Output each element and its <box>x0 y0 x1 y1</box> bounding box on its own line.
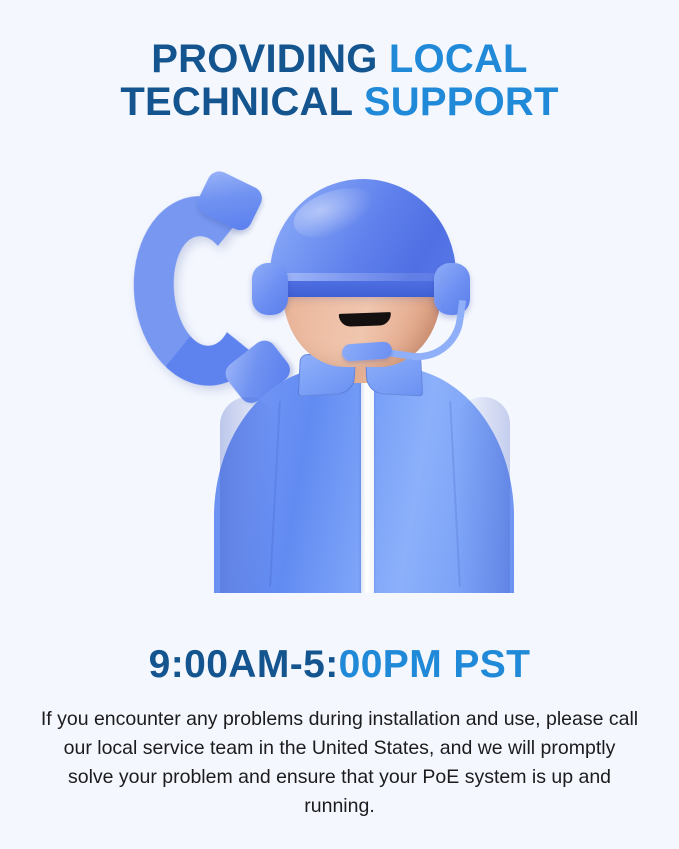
agent-torso <box>214 367 514 593</box>
page-title-line-2: TECHNICAL SUPPORT <box>120 81 558 124</box>
title-word-providing: PROVIDING <box>151 37 377 81</box>
title-word-local: LOCAL <box>389 37 528 81</box>
hours-segment-close: 00PM PST <box>339 643 531 686</box>
support-poster: PROVIDING LOCAL TECHNICAL SUPPORT <box>0 0 679 849</box>
page-title-line-1: PROVIDING LOCAL <box>120 38 558 81</box>
headset-earpiece-left <box>252 263 288 315</box>
support-agent-illustration <box>0 155 679 625</box>
title-word-technical: TECHNICAL <box>120 80 352 124</box>
hours-segment-open: 9:00AM-5: <box>149 643 339 686</box>
title-word-support: SUPPORT <box>364 80 559 124</box>
business-hours: 9:00AM-5:00PM PST <box>149 643 531 687</box>
agent-figure <box>196 155 526 593</box>
agent-cap <box>270 179 456 295</box>
support-description: If you encounter any problems during ins… <box>40 705 640 820</box>
page-title: PROVIDING LOCAL TECHNICAL SUPPORT <box>120 38 558 124</box>
headset-mic-boom <box>380 290 466 366</box>
jacket-zipper <box>361 373 374 593</box>
